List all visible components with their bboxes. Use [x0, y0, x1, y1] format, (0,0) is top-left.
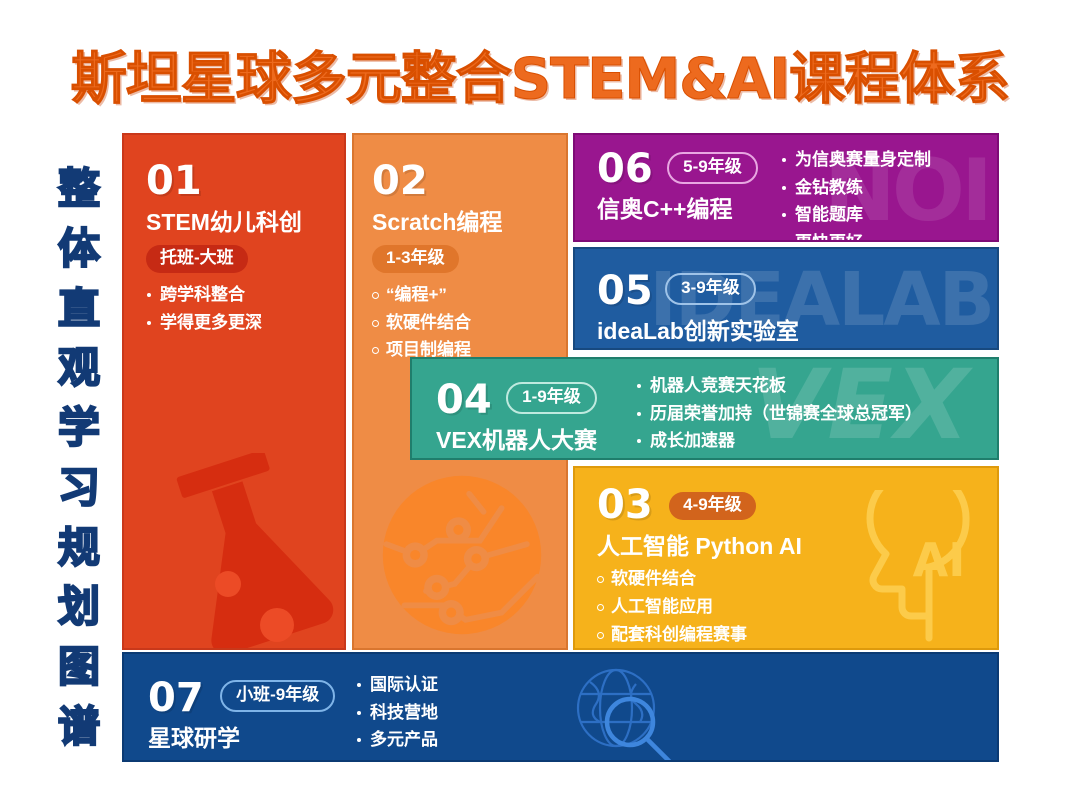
card-title: VEX机器人大赛	[436, 427, 597, 453]
card-number: 06	[597, 146, 653, 192]
card-number: 05	[597, 268, 653, 314]
ai-head-icon: AI	[847, 490, 997, 648]
bullet-item: 多元产品	[356, 726, 438, 754]
grade-badge: 5-9年级	[667, 152, 758, 184]
card-number: 04	[436, 377, 492, 423]
side-label-char: 规	[58, 527, 100, 569]
course-card-03[interactable]: AI 03 4-9年级 人工智能 Python AI 软硬件结合 人工智能应用 …	[573, 466, 999, 650]
bullet-item: 智能题库	[781, 201, 931, 229]
card-bullet-list: 跨学科整合 学得更多更深	[146, 281, 302, 336]
bullet-item: 国际认证	[356, 671, 438, 699]
bullet-item: 机器人竞赛天花板	[636, 372, 922, 400]
card-06-heading: 06 5-9年级 信奥C++编程	[597, 149, 758, 222]
card-title: STEM幼儿科创	[146, 209, 302, 235]
side-label-char: 整	[58, 168, 100, 210]
page-title: 斯坦星球多元整合STEM&AI课程体系	[0, 34, 1080, 115]
course-card-04[interactable]: VEX 04 1-9年级 VEX机器人大赛 机器人竞赛天花板 历届荣誉加持（世锦…	[410, 357, 999, 460]
course-card-01[interactable]: 01 STEM幼儿科创 托班-大班 跨学科整合 学得更多更深	[122, 133, 346, 650]
card-title: Scratch编程	[372, 209, 502, 235]
side-label-char: 划	[58, 586, 100, 628]
bullet-item: 学得更多更深	[146, 309, 302, 337]
bullet-item: 软硬件结合	[597, 565, 802, 593]
infographic-canvas: 斯坦星球多元整合STEM&AI课程体系 整 体 直 观 学 习 规 划 图 谱 …	[0, 0, 1080, 801]
bullet-item: 为信奥赛量身定制	[781, 146, 931, 174]
side-label-char: 图	[58, 646, 100, 688]
bullet-item: 软硬件结合	[372, 309, 502, 337]
grade-badge: 4-9年级	[669, 492, 756, 520]
course-card-05[interactable]: IDEALAB 05 3-9年级 ideaLab创新实验室	[573, 247, 999, 350]
card-bullet-list: “编程+” 软硬件结合 项目制编程	[372, 281, 502, 364]
card-bullet-list: 国际认证 科技营地 多元产品	[356, 671, 438, 754]
card-05-heading: 05 3-9年级 ideaLab创新实验室	[597, 271, 799, 344]
grade-badge: 1-9年级	[506, 382, 597, 414]
side-label-char: 观	[58, 347, 100, 389]
grade-badge: 3-9年级	[665, 273, 756, 305]
course-card-06[interactable]: NOI 06 5-9年级 信奥C++编程 为信奥赛量身定制 金钻教练 智能题库 …	[573, 133, 999, 242]
svg-text:AI: AI	[913, 533, 966, 587]
card-number: 07	[148, 675, 204, 721]
card-number: 02	[372, 161, 502, 201]
side-label-char: 习	[58, 467, 100, 509]
card-title: 信奥C++编程	[597, 196, 758, 222]
card-02-content: 02 Scratch编程 1-3年级 “编程+” 软硬件结合 项目制编程	[372, 161, 502, 364]
card-03-content: 03 4-9年级 人工智能 Python AI 软硬件结合 人工智能应用 配套科…	[597, 485, 802, 648]
bullet-item: 历届荣誉加持（世锦赛全球总冠军）	[636, 400, 922, 428]
card-title: ideaLab创新实验室	[597, 318, 799, 344]
card-bullet-list: 为信奥赛量身定制 金钻教练 智能题库 更快更好	[781, 146, 931, 242]
circuit-globe-icon	[372, 465, 552, 645]
bullet-item: 配套科创编程赛事	[597, 621, 802, 649]
bullet-item: “编程+”	[372, 281, 502, 309]
card-bullet-list: 软硬件结合 人工智能应用 配套科创编程赛事	[597, 565, 802, 648]
flask-icon	[150, 453, 346, 650]
globe-search-icon	[564, 662, 684, 762]
grade-badge: 托班-大班	[146, 245, 248, 273]
card-number: 03	[597, 482, 653, 528]
side-label-char: 直	[58, 288, 100, 330]
grade-badge: 小班-9年级	[220, 680, 335, 712]
card-01-content: 01 STEM幼儿科创 托班-大班 跨学科整合 学得更多更深	[146, 161, 302, 336]
card-07-heading: 07 小班-9年级 星球研学	[148, 678, 335, 751]
bullet-item: 更快更好	[781, 229, 931, 242]
bullet-item: 金钻教练	[781, 174, 931, 202]
bullet-item: 科技营地	[356, 699, 438, 727]
vertical-side-label: 整 体 直 观 学 习 规 划 图 谱	[46, 168, 112, 748]
card-bullet-list: 机器人竞赛天花板 历届荣誉加持（世锦赛全球总冠军） 成长加速器	[636, 372, 922, 455]
side-label-char: 体	[58, 228, 100, 270]
bullet-item: 跨学科整合	[146, 281, 302, 309]
course-card-07[interactable]: 07 小班-9年级 星球研学 国际认证 科技营地 多元产品	[122, 652, 999, 762]
side-label-char: 谱	[58, 706, 100, 748]
card-04-heading: 04 1-9年级 VEX机器人大赛	[436, 380, 597, 453]
bullet-item: 人工智能应用	[597, 593, 802, 621]
card-title: 人工智能 Python AI	[597, 533, 802, 559]
card-number: 01	[146, 161, 302, 201]
card-title: 星球研学	[148, 725, 335, 751]
side-label-char: 学	[58, 407, 100, 449]
bullet-item: 成长加速器	[636, 427, 922, 455]
grade-badge: 1-3年级	[372, 245, 459, 273]
